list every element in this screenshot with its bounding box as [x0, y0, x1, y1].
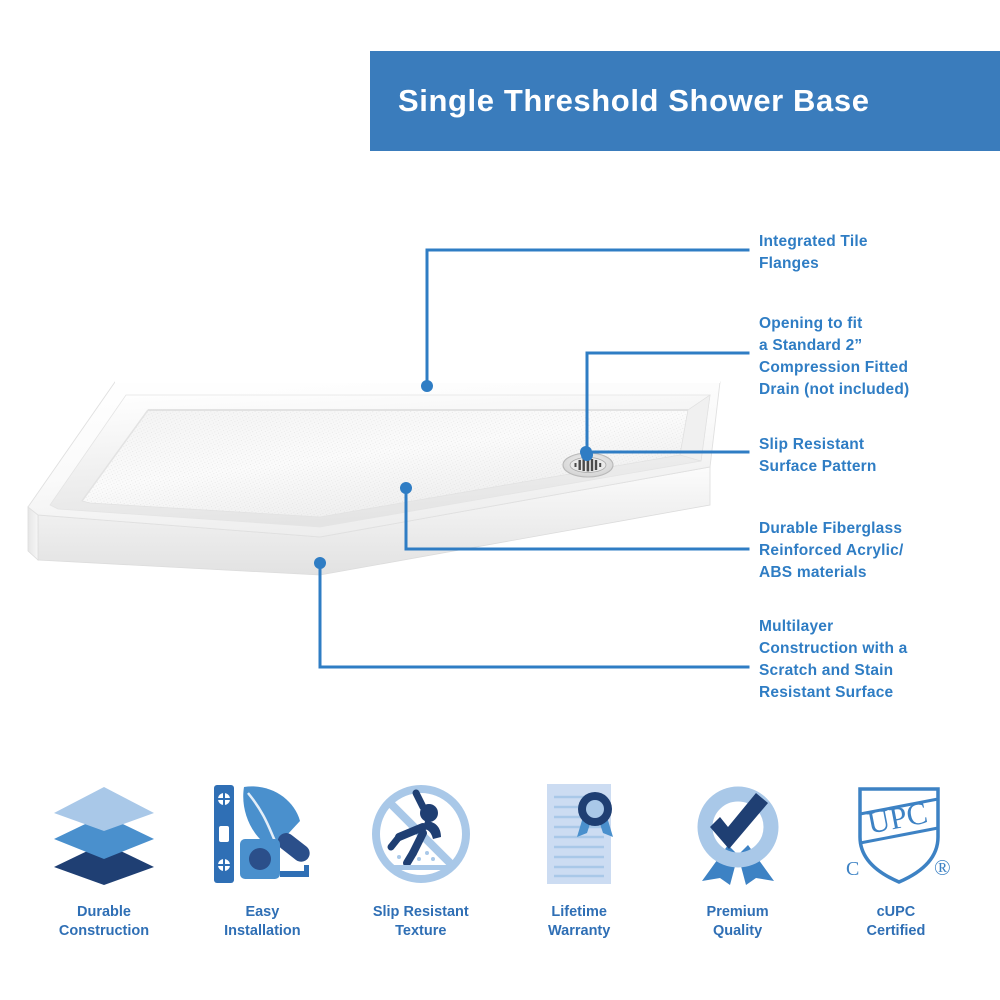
callout-label-drain-opening: Opening to fit a Standard 2” Compression…: [759, 313, 909, 401]
shower-base-drawing: [20, 355, 740, 605]
feature-slip-resistant-texture: Slip Resistant Texture: [345, 775, 497, 975]
product-illustration: [20, 355, 740, 605]
feature-durable-construction: Durable Construction: [28, 775, 180, 975]
feature-label-cupc-certified: cUPC Certified: [867, 903, 926, 941]
registered-mark: ®: [934, 855, 951, 880]
feature-lifetime-warranty: Lifetime Warranty: [503, 775, 655, 975]
checkmark-rosette-icon: [680, 775, 796, 893]
cupc-prefix-c: C: [846, 858, 859, 880]
callout-label-multilayer-construction: Multilayer Construction with a Scratch a…: [759, 616, 907, 704]
feature-label-lifetime-warranty: Lifetime Warranty: [548, 903, 610, 941]
feature-label-premium-quality: Premium Quality: [707, 903, 769, 941]
callout-label-durable-materials: Durable Fiberglass Reinforced Acrylic/ A…: [759, 518, 904, 584]
feature-easy-installation: Easy Installation: [186, 775, 338, 975]
feature-cupc-certified: UPC C ® cUPC Certified: [820, 775, 972, 975]
feature-label-slip-resistant-texture: Slip Resistant Texture: [373, 903, 469, 941]
product-infographic-page: Single Threshold Shower Base: [0, 0, 1000, 1000]
callout-label-slip-resistant-surface: Slip Resistant Surface Pattern: [759, 434, 877, 478]
feature-premium-quality: Premium Quality: [662, 775, 814, 975]
level-trowel-tape-icon: [204, 775, 320, 893]
certificate-rosette-icon: [521, 775, 637, 893]
stacked-layers-icon: [46, 775, 162, 893]
drain-grate: [563, 453, 613, 477]
title-banner: Single Threshold Shower Base: [370, 51, 1000, 151]
feature-strip: Durable Construction: [0, 775, 1000, 975]
page-title: Single Threshold Shower Base: [398, 83, 870, 119]
feature-label-easy-installation: Easy Installation: [224, 903, 301, 941]
callout-label-integrated-tile-flanges: Integrated Tile Flanges: [759, 231, 868, 275]
feature-label-durable-construction: Durable Construction: [59, 903, 149, 941]
no-slip-sign-icon: [363, 775, 479, 893]
upc-band-text: UPC: [864, 795, 930, 841]
upc-shield-icon: UPC C ®: [838, 775, 954, 893]
